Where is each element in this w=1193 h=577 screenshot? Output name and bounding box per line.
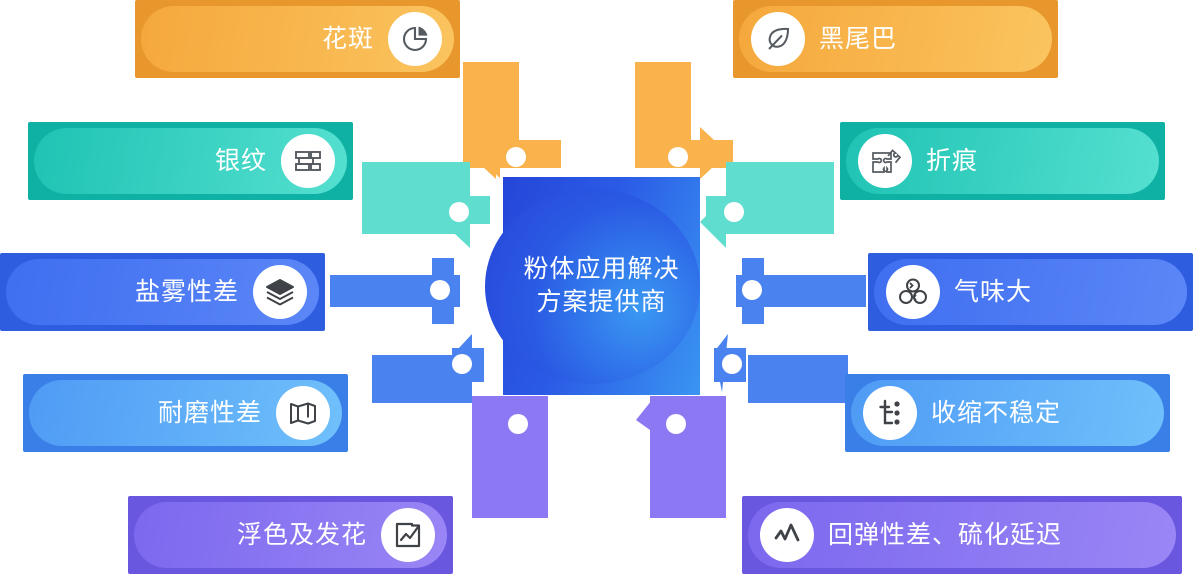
node-yin-wen[interactable]: 银纹	[28, 122, 353, 200]
connector-hei-wei-ba	[635, 62, 733, 179]
node-hui-tan-xing-cha[interactable]: 回弹性差、硫化延迟	[742, 496, 1182, 574]
node-pill[interactable]: 盐雾性差	[6, 259, 319, 325]
map-icon	[276, 386, 330, 440]
tree-hierarchy-icon	[863, 386, 917, 440]
node-hei-wei-ba[interactable]: 黑尾巴	[733, 0, 1058, 78]
node-pill[interactable]: 耐磨性差	[29, 380, 342, 446]
node-pill[interactable]: 花斑	[141, 6, 454, 72]
center-label-line1: 粉体应用解决	[503, 253, 700, 286]
node-pill[interactable]: 黑尾巴	[739, 6, 1052, 72]
node-pill[interactable]: 银纹	[34, 128, 347, 194]
node-label: 耐磨性差	[158, 401, 262, 426]
center-label: 粉体应用解决 方案提供商	[503, 253, 700, 319]
trending-up-box-icon	[381, 508, 435, 562]
line-chart-icon	[760, 508, 814, 562]
node-shou-suo-bu-wen-ding[interactable]: 收缩不稳定	[845, 374, 1170, 452]
node-zhe-hen[interactable]: 折痕	[840, 122, 1165, 200]
brick-wall-icon	[281, 134, 335, 188]
infographic-canvas: 粉体应用解决 方案提供商 花斑 黑尾巴	[0, 0, 1193, 577]
node-pill[interactable]: 浮色及发花	[134, 502, 447, 568]
node-fu-se-ji-fa-hua[interactable]: 浮色及发花	[128, 496, 453, 574]
connector-zhe-hen	[700, 162, 834, 248]
node-pill[interactable]: 收缩不稳定	[851, 380, 1164, 446]
connector-shou-suo-bu-wen-ding	[714, 334, 848, 403]
node-label: 黑尾巴	[819, 27, 897, 52]
node-label: 折痕	[926, 149, 978, 174]
node-pill[interactable]: 折痕	[846, 128, 1159, 194]
node-pill[interactable]: 回弹性差、硫化延迟	[748, 502, 1176, 568]
connector-fu-se-ji-fa-hua	[472, 396, 548, 518]
node-yan-wu-xing-cha[interactable]: 盐雾性差	[0, 253, 325, 331]
connector-hua-ban	[463, 62, 561, 179]
node-label: 银纹	[215, 149, 267, 174]
recycle-circles-icon	[886, 265, 940, 319]
node-label: 浮色及发花	[237, 523, 367, 548]
connector-qi-wei-da	[736, 258, 866, 324]
leaf-icon	[751, 12, 805, 66]
node-pill[interactable]: 气味大	[874, 259, 1187, 325]
puzzle-icon	[858, 134, 912, 188]
node-label: 花斑	[322, 27, 374, 52]
node-label: 收缩不稳定	[931, 401, 1061, 426]
node-label: 回弹性差、硫化延迟	[828, 523, 1062, 548]
node-qi-wei-da[interactable]: 气味大	[868, 253, 1193, 331]
node-label: 气味大	[954, 280, 1032, 305]
connector-hui-tan-xing-cha	[636, 396, 726, 518]
center-label-line2: 方案提供商	[503, 286, 700, 319]
connector-yin-wen	[362, 162, 490, 248]
layers-icon	[253, 265, 307, 319]
connector-nai-mo-xing-cha	[372, 334, 484, 403]
center-hub[interactable]: 粉体应用解决 方案提供商	[503, 177, 700, 395]
pie-chart-icon	[388, 12, 442, 66]
node-hua-ban[interactable]: 花斑	[135, 0, 460, 78]
node-nai-mo-xing-cha[interactable]: 耐磨性差	[23, 374, 348, 452]
node-label: 盐雾性差	[135, 280, 239, 305]
connector-yan-wu-xing-cha	[330, 258, 460, 324]
